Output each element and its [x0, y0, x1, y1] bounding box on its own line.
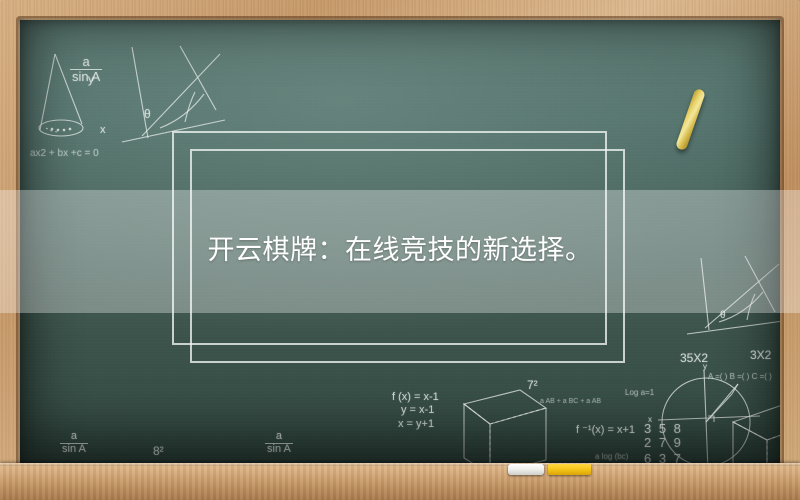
eraser-white [508, 464, 544, 475]
chalk-ledge [0, 463, 800, 500]
page-title: 开云棋牌：在线竞技的新选择。 [208, 235, 593, 267]
ledge-lip [0, 463, 800, 466]
chalkboard-scene: y x θ a sin A ax2 + bx +c = 0 θ f (x) = … [0, 0, 800, 500]
caption-band: 开云棋牌：在线竞技的新选择。 [0, 190, 800, 313]
chalk-yellow-ledge [548, 464, 591, 475]
